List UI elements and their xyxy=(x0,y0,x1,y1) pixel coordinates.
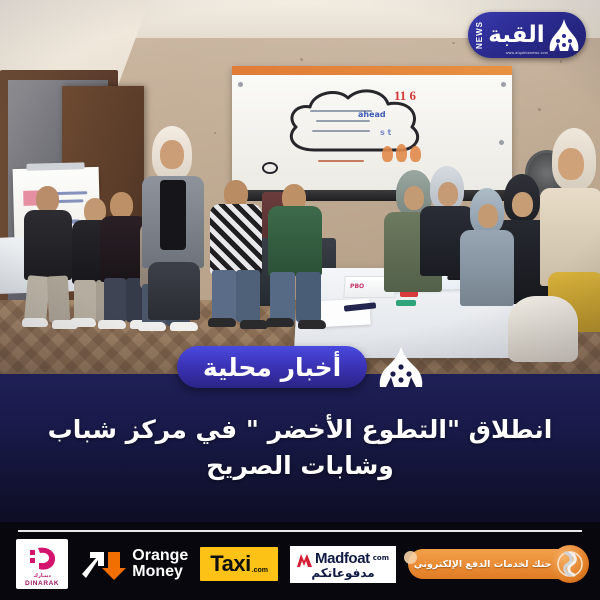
sponsor-madfoat[interactable]: Madfoat com مدفوعاتكم xyxy=(290,546,396,583)
sponsor-rahtak[interactable]: راحتك لخدمات الدفع الإلكتروني xyxy=(408,549,584,579)
whiteboard: 11 6 ahead s t xyxy=(232,66,512,192)
category-badge-label: أخبار محلية xyxy=(203,353,341,382)
sponsor-divider xyxy=(18,530,582,532)
category-badge[interactable]: أخبار محلية xyxy=(177,346,367,388)
taxi-suffix: .com xyxy=(252,567,268,574)
taxi-label: Taxi xyxy=(210,551,250,577)
headline-line-2: وشابات الصريح xyxy=(26,448,574,484)
madfoat-wordmark: Madfoat com xyxy=(297,550,389,567)
madfoat-suffix: com xyxy=(373,554,389,562)
sponsor-taxi[interactable]: Taxi .com xyxy=(200,547,278,581)
rahtak-accent-dot xyxy=(404,551,417,564)
madfoat-logo-icon xyxy=(297,552,312,565)
headline-text: انطلاق "التطوع الأخضر " في مركز شباب وشا… xyxy=(0,412,600,483)
madfoat-arabic-label: مدفوعاتكم xyxy=(311,567,374,579)
logo-arabic-name: القبة xyxy=(488,24,544,47)
dinarak-logo-icon xyxy=(27,546,57,572)
dome-mark-icon xyxy=(549,19,579,51)
rahtak-slogan: راحتك لخدمات الدفع الإلكتروني xyxy=(414,559,560,570)
sponsor-dinarak[interactable]: دينـارك DINARAK xyxy=(16,539,68,589)
sponsor-logo-row: دينـارك DINARAK Orange Money Taxi .com xyxy=(0,538,600,590)
news-card: 11 6 ahead s t PBO xyxy=(0,0,600,600)
flip-chart-clip xyxy=(26,162,84,171)
madfoat-label: Madfoat xyxy=(315,550,370,567)
headline-line-1: انطلاق "التطوع الأخضر " في مركز شباب xyxy=(48,415,553,444)
sponsor-orange-money[interactable]: Orange Money xyxy=(80,548,188,581)
logo-news-label: NEWS xyxy=(475,21,484,49)
dinarak-english-label: DINARAK xyxy=(25,580,59,587)
thought-cloud-tail xyxy=(262,162,278,174)
sponsor-bar: دينـارك DINARAK Orange Money Taxi .com xyxy=(0,522,600,600)
logo-url-strip: www.alqubbanews.com xyxy=(468,51,586,55)
orange-money-arrows-icon xyxy=(80,548,126,580)
dinarak-arabic-label: دينـارك xyxy=(33,573,51,579)
orange-money-line-2: Money xyxy=(132,563,183,580)
orange-money-line-1: Orange xyxy=(132,547,188,564)
whiteboard-top-rail xyxy=(232,66,512,75)
category-row: أخبار محلية xyxy=(0,346,600,388)
dome-mark-icon xyxy=(379,347,423,387)
headline-banner: أخبار محلية انطلاق "التطوع الأخضر " في م… xyxy=(0,374,600,522)
orange-money-label: Orange Money xyxy=(132,548,188,581)
payment-swirl-icon xyxy=(551,545,589,583)
channel-logo[interactable]: القبة NEWS www.alqubbanews.com xyxy=(468,12,586,58)
